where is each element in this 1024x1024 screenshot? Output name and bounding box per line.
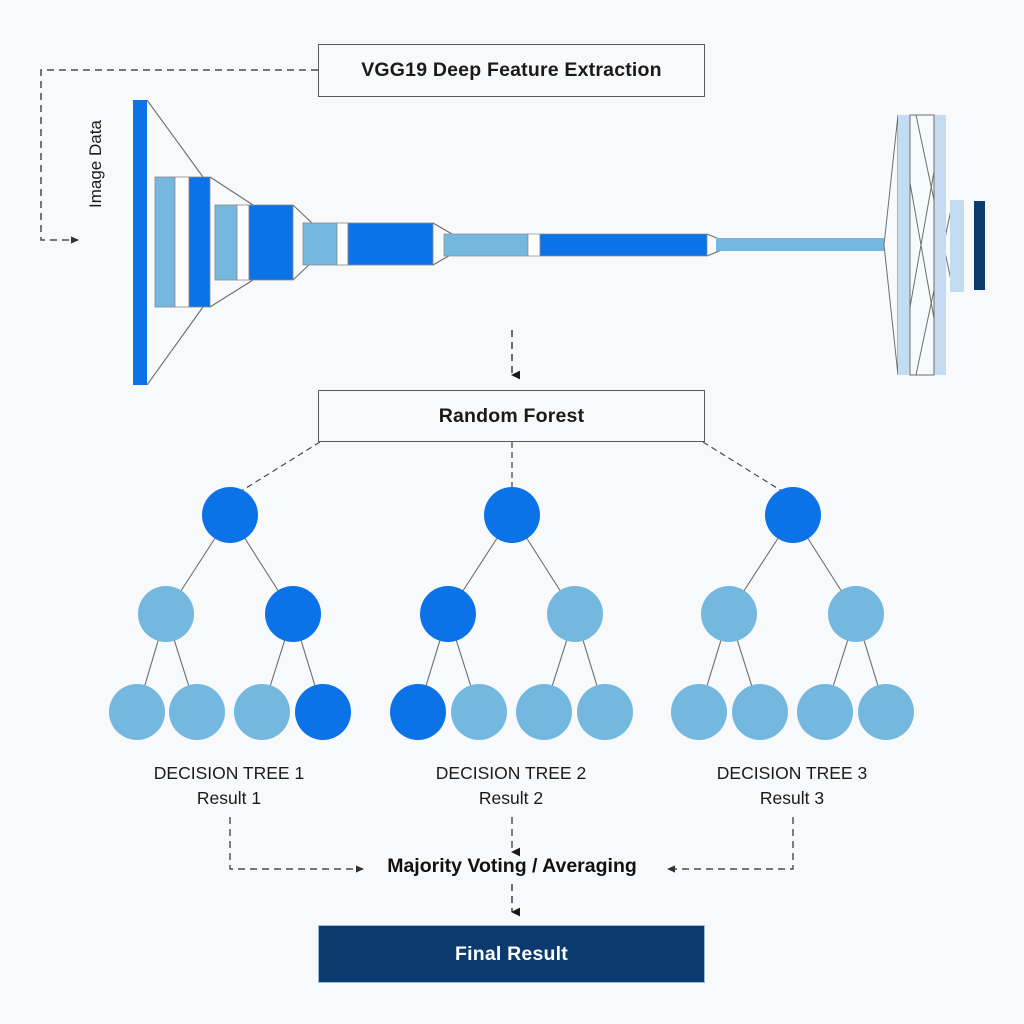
vgg-fc-layer-3	[950, 200, 964, 292]
tree-1-result-label: Result 1	[79, 786, 379, 811]
tree-2-caption: DECISION TREE 2 Result 2	[361, 761, 661, 811]
tree-2-leaf-node-2	[451, 684, 507, 740]
random-forest-title-box[interactable]: Random Forest	[318, 390, 705, 442]
tree-3-caption: DECISION TREE 3 Result 3	[642, 761, 942, 811]
vgg-fc-layer-1	[898, 115, 910, 375]
tree-3-level2-node-2	[828, 586, 884, 642]
majority-voting-label: Majority Voting / Averaging	[362, 855, 662, 878]
tree-1-caption: DECISION TREE 1 Result 1	[79, 761, 379, 811]
tree-2-leaf-node-4	[577, 684, 633, 740]
tree-3-leaf-node-2	[732, 684, 788, 740]
tree-3-caption-title: DECISION TREE 3	[717, 763, 867, 783]
vgg-input-plane	[133, 100, 147, 385]
tree-1-leaf-node-3	[234, 684, 290, 740]
vgg19-title-box[interactable]: VGG19 Deep Feature Extraction	[318, 44, 705, 97]
tree-2-result-label: Result 2	[361, 786, 661, 811]
tree-1-level2-node-2	[265, 586, 321, 642]
tree-1-level2-node-1	[138, 586, 194, 642]
tree-3-root-node	[765, 487, 821, 543]
vgg-output-bar	[974, 201, 985, 290]
final-result-box[interactable]: Final Result	[318, 925, 705, 983]
tree-3-leaf-node-3	[797, 684, 853, 740]
tree-3-level2-node-1	[701, 586, 757, 642]
tree-3-result-label: Result 3	[642, 786, 942, 811]
tree-1-root-node	[202, 487, 258, 543]
tree-2-caption-title: DECISION TREE 2	[436, 763, 586, 783]
diagram-canvas: VGG19 Deep Feature Extraction Image Data…	[0, 0, 1024, 1024]
tree-2-level2-node-2	[547, 586, 603, 642]
vgg-fc-layer-2	[934, 115, 946, 375]
image-data-label: Image Data	[86, 48, 106, 208]
final-result-label: Final Result	[455, 943, 568, 966]
tree-2-leaf-node-3	[516, 684, 572, 740]
tree-1-caption-title: DECISION TREE 1	[154, 763, 304, 783]
tree-3-leaf-node-4	[858, 684, 914, 740]
tree-1-leaf-node-2	[169, 684, 225, 740]
tree-2-level2-node-1	[420, 586, 476, 642]
decision-tree-2	[390, 487, 633, 740]
tree-1-leaf-node-4	[295, 684, 351, 740]
random-forest-title-label: Random Forest	[439, 405, 585, 428]
tree-1-leaf-node-1	[109, 684, 165, 740]
decision-tree-1	[109, 487, 351, 740]
tree-3-leaf-node-1	[671, 684, 727, 740]
vgg19-title-label: VGG19 Deep Feature Extraction	[361, 59, 662, 82]
vgg19-network-graphic	[133, 100, 985, 385]
decision-tree-3	[671, 487, 914, 740]
tree-2-leaf-node-1	[390, 684, 446, 740]
tree-2-root-node	[484, 487, 540, 543]
